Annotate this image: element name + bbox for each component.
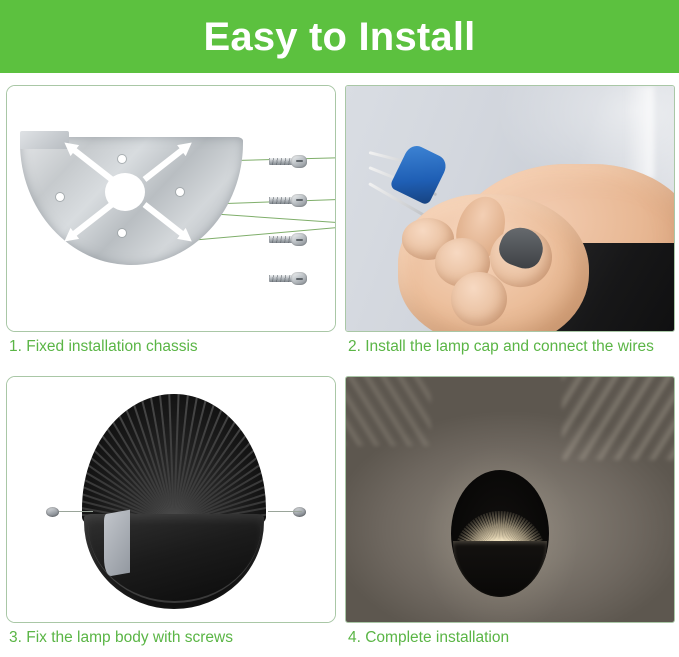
lamp-shell [451, 470, 549, 597]
step-1-caption: 1. Fixed installation chassis [9, 337, 339, 356]
step-3-caption: 3. Fix the lamp body with screws [9, 628, 339, 647]
lamp-bracket [104, 510, 130, 578]
center-hole [105, 173, 145, 211]
lamp-body [82, 394, 266, 605]
screw-2-thread [269, 197, 293, 204]
blue-wire-connector [390, 142, 451, 206]
screw-3 [269, 233, 309, 246]
header-banner: Easy to Install [0, 0, 679, 73]
mounting-plate [20, 137, 243, 264]
lamp-fan-ridges [82, 394, 266, 525]
wiring-photo [346, 86, 674, 331]
lamp-screw-right [293, 507, 315, 517]
wall-glow-top-right [562, 376, 675, 460]
chassis-illustration [7, 86, 335, 331]
plate-tab [20, 131, 69, 149]
screw-1-slot [296, 160, 303, 162]
install-guide-page: Easy to Install [0, 0, 679, 657]
screw-4 [269, 272, 309, 285]
step-2-image-frame [345, 85, 675, 332]
lamp-screw-left [46, 507, 68, 517]
screw-4-thread [269, 275, 293, 282]
installed-lamp [451, 470, 549, 597]
screw-3-slot [296, 239, 303, 241]
step-4-image-frame [345, 376, 675, 623]
installed-lamp-photo [346, 377, 674, 622]
wall-glow-top-left [345, 376, 431, 446]
screw-1-thread [269, 158, 293, 165]
screw-4-slot [296, 278, 303, 280]
step-3-image-frame [6, 376, 336, 623]
wall-edge [625, 86, 655, 179]
steps-grid: 1. Fixed installation chassis [0, 73, 679, 657]
lamp-screw-right-lead [268, 511, 302, 512]
lamp-screw-left-head [46, 507, 59, 517]
lamp-screw-left-lead [59, 511, 93, 512]
finger-3 [451, 272, 507, 326]
lamp-lower-shell [453, 541, 547, 597]
step-1-image-frame [6, 85, 336, 332]
step-4-caption: 4. Complete installation [348, 628, 678, 647]
step-2-caption: 2. Install the lamp cap and connect the … [348, 337, 670, 356]
screw-3-thread [269, 236, 293, 243]
screw-1 [269, 155, 309, 168]
page-title: Easy to Install [204, 17, 476, 57]
screw-2 [269, 194, 309, 207]
lamp-body-photo [7, 377, 335, 622]
